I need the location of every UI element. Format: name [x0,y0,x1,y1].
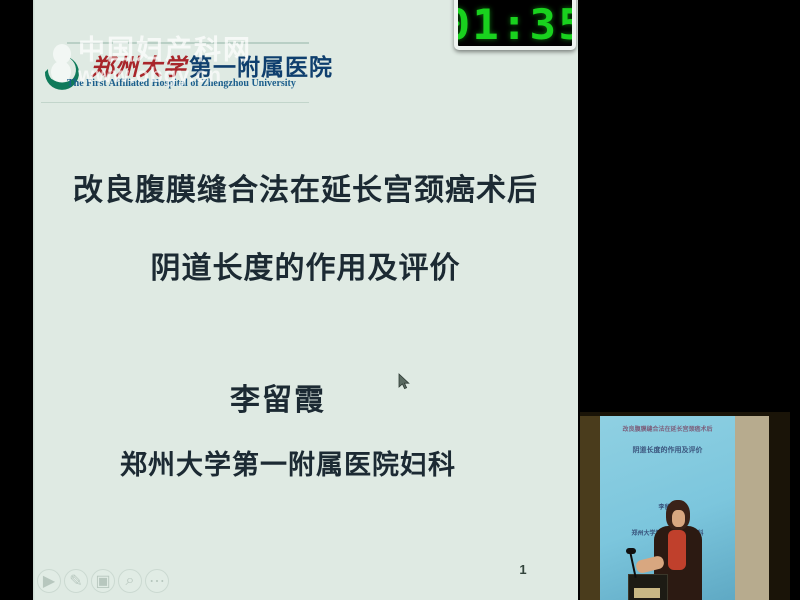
projected-title-line-2: 阴道长度的作用及评价 [600,445,735,455]
slide-title-line-1: 改良腹膜缝合法在延长宫颈癌术后 [33,152,578,230]
slide-author: 李留霞 [33,375,523,419]
lecture-room-view: 改良腹膜缝合法在延长宫颈癌术后 阴道长度的作用及评价 李留霞 郑州大学第一附属医… [580,412,790,600]
slide-title: 改良腹膜缝合法在延长宫颈癌术后 阴道长度的作用及评价 [33,152,578,308]
magnifier-icon[interactable]: ⌕ [118,569,142,593]
projected-title-line-1: 改良腹膜缝合法在延长宫颈癌术后 [600,424,735,433]
speaker-scarf [668,530,686,570]
letterhead-university-name: 郑州大学 [91,55,187,80]
letterhead-english-name: The First Affiliated Hospital of Zhengzh… [67,78,296,89]
presentation-screen: 郑州大学第一附属医院 The First Affiliated Hospital… [0,0,800,600]
speaker-face [672,510,685,527]
microphone-head [626,548,636,554]
speaker-video-inset[interactable]: 改良腹膜缝合法在延长宫颈癌术后 阴道长度的作用及评价 李留霞 郑州大学第一附属医… [578,396,800,600]
letterhead-rule-top [67,42,309,44]
hospital-letterhead: 郑州大学第一附属医院 The First Affiliated Hospital… [33,30,313,110]
slide-title-line-2: 阴道长度的作用及评价 [33,230,578,308]
slide-affiliation: 郑州大学第一附属医院妇科 [33,443,543,482]
letterhead-rule-bottom [41,102,309,103]
more-options-icon[interactable]: ⋯ [145,569,169,593]
pen-icon[interactable]: ✎ [64,569,88,593]
slides-icon[interactable]: ▣ [91,569,115,593]
podium-plate [634,588,660,598]
play-icon[interactable]: ▶ [37,569,61,593]
letterhead-hospital-name: 第一附属医院 [189,54,333,80]
room-right-wall [735,416,769,600]
powerpoint-slide[interactable]: 郑州大学第一附属医院 The First Affiliated Hospital… [33,0,578,600]
letterhead-chinese-name: 郑州大学第一附属医院 [91,48,333,82]
room-left-wall [580,416,600,600]
slide-page-number: 1 [503,562,543,577]
presenter-toolbar[interactable]: ▶ ✎ ▣ ⌕ ⋯ [37,569,169,593]
countdown-timer: 01:35 [454,0,576,50]
countdown-timer-digits: 01:35 [454,4,576,46]
